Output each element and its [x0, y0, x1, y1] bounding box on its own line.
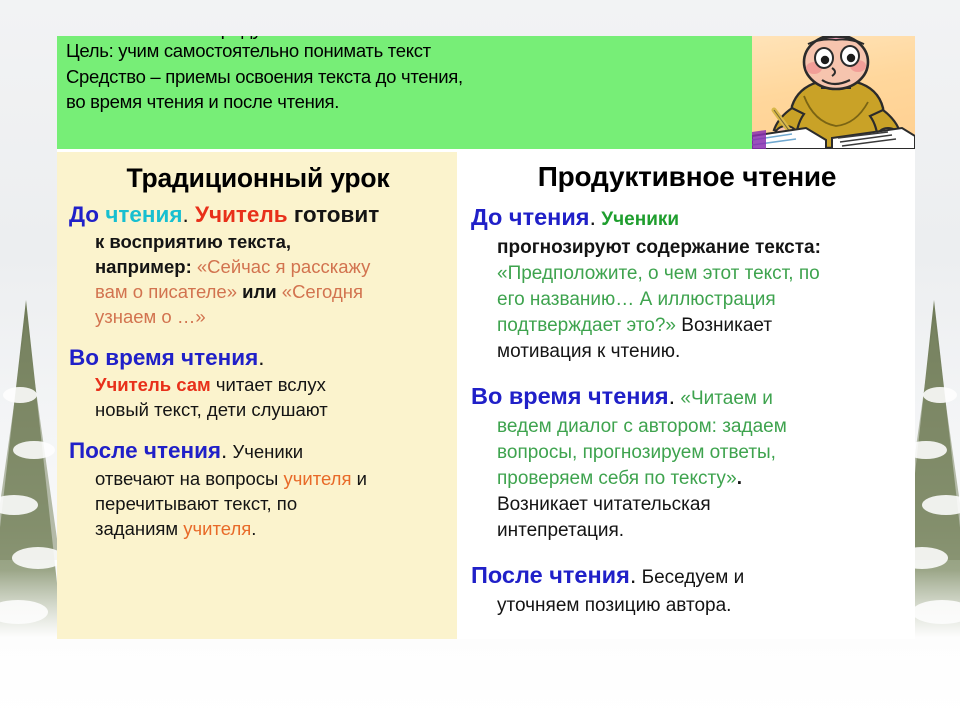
run-quote-1b: вам о писателе» [95, 281, 237, 302]
run-quote-line3: вопросы, прогнозируем ответы, [497, 442, 776, 463]
run-voznikaet-chitat: Возникает читательская [497, 494, 711, 515]
run-ucheniki: Ученики [596, 209, 679, 230]
left-column-title: Традиционный урок [69, 162, 447, 194]
left-section-after-reading: После чтения. Ученики отвечают на вопрос… [69, 436, 447, 541]
run-ili: или [237, 281, 282, 302]
right-before-reading-body: прогнозируют содержание текста:«Предполо… [471, 235, 903, 365]
run-prognoziruyut: прогнозируют содержание текста: [497, 237, 821, 258]
right-column-title: Продуктивное чтение [471, 160, 903, 194]
heading-chteniya: чтения [105, 202, 182, 227]
heading-period: . [182, 202, 188, 227]
run-quote-line3: подтверждает это?» [497, 315, 676, 336]
left-section-during-reading: Во время чтения. Учитель сам читает вслу… [69, 343, 447, 422]
boy-reading-illustration [752, 36, 915, 149]
run-novyi-tekst: новый текст, дети слушают [95, 399, 328, 420]
right-after-reading-heading: После чтения. Беседуем и [471, 560, 903, 593]
run-besedyem: Беседуем и [636, 567, 744, 588]
heading-do: До [471, 204, 502, 230]
run-quote-1a: «Сейчас я расскажу [197, 256, 370, 277]
run-voznikaet: Возникает [676, 315, 772, 336]
run-vospriyatiyu: к восприятию текста, [95, 231, 291, 252]
boy-reading-svg [752, 36, 915, 149]
run-otvechayut: отвечают на вопросы [95, 468, 284, 489]
run-quote-start: «Читаем и [675, 388, 773, 409]
goal-line-3: во время чтения и после чтения. [66, 91, 339, 112]
heading-do: До [69, 202, 99, 227]
slide-canvas: Продуктивное чтение Цель: учим самостоят… [0, 0, 960, 720]
run-quote-line1: «Предположите, о чем этот текст, по [497, 263, 820, 284]
run-naprimer: например: [95, 256, 197, 277]
right-during-reading-body: ведем диалог с автором: задаемвопросы, п… [471, 414, 903, 544]
goal-line-1: Цель: учим самостоятельно понимать текст [66, 40, 431, 61]
left-section-before-reading: До чтения. Учитель готовит к восприятию … [69, 200, 447, 329]
run-uchitel: Учитель [195, 202, 288, 227]
run-uchitel-sam: Учитель сам [95, 374, 211, 395]
left-after-reading-heading: После чтения. Ученики [69, 436, 447, 466]
run-zadaniyam: заданиям [95, 518, 183, 539]
right-before-reading-heading: До чтения. Ученики [471, 202, 903, 235]
heading-vo-vremya-chteniya: Во время чтения [69, 345, 258, 370]
right-section-during-reading: Во время чтения. «Читаем и ведем диалог … [471, 381, 903, 544]
run-utochnyaem: уточняем позицию автора. [497, 595, 731, 616]
right-section-before-reading: До чтения. Ученики прогнозируют содержан… [471, 202, 903, 365]
left-after-reading-body: отвечают на вопросы учителя иперечитываю… [69, 466, 447, 541]
heading-period: . [258, 345, 264, 370]
run-interpretatsiya: интепретация. [497, 520, 624, 541]
run-motivatsiya: мотивация к чтению. [497, 341, 680, 362]
left-before-reading-body: к восприятию текста,например: «Сейчас я … [69, 229, 447, 329]
heading-posle-chteniya: После чтения [69, 438, 221, 463]
run-quote-line2: ведем диалог с автором: задаем [497, 416, 787, 437]
right-during-reading-heading: Во время чтения. «Читаем и [471, 381, 903, 414]
run-final-period: . [251, 518, 256, 539]
left-before-reading-heading: До чтения. Учитель готовит [69, 200, 447, 229]
run-quote-line4: проверяем себя по тексту» [497, 468, 737, 489]
run-quote-2a: «Сегодня [282, 281, 363, 302]
heading-vo-vremya-chteniya: Во время чтения [471, 383, 669, 409]
right-section-after-reading: После чтения. Беседуем и уточняем позици… [471, 560, 903, 619]
run-quote-line2: его названию… А иллюстрация [497, 289, 776, 310]
run-period: . [737, 468, 742, 489]
right-after-reading-body: уточняем позицию автора. [471, 593, 903, 619]
comparison-columns: Традиционный урок До чтения. Учитель гот… [57, 152, 915, 639]
run-and: и [351, 468, 366, 489]
run-gotovit: готовит [288, 202, 380, 227]
run-chitaet-vsluh: читает вслух [211, 374, 326, 395]
content-card: Продуктивное чтение Цель: учим самостоят… [57, 36, 915, 639]
column-traditional-lesson: Традиционный урок До чтения. Учитель гот… [57, 152, 457, 639]
left-during-reading-heading: Во время чтения. [69, 343, 447, 372]
run-quote-2b: узнаем о …» [95, 306, 206, 327]
run-uchitelya-1: учителя [284, 468, 352, 489]
left-during-reading-body: Учитель сам читает вслухновый текст, дет… [69, 372, 447, 422]
goal-line-2: Средство – приемы освоения текста до чте… [66, 66, 463, 87]
goal-statement: Цель: учим самостоятельно понимать текст… [66, 38, 706, 115]
heading-posle-chteniya: После чтения [471, 562, 630, 588]
column-productive-reading: Продуктивное чтение До чтения. Ученики п… [457, 152, 915, 639]
header-green-band: Продуктивное чтение Цель: учим самостоят… [57, 36, 915, 149]
run-ucheniki: Ученики [227, 441, 303, 462]
heading-chteniya: чтения [509, 204, 590, 230]
run-perechityvayut: перечитывают текст, по [95, 493, 297, 514]
run-uchitelya-2: учителя [183, 518, 251, 539]
